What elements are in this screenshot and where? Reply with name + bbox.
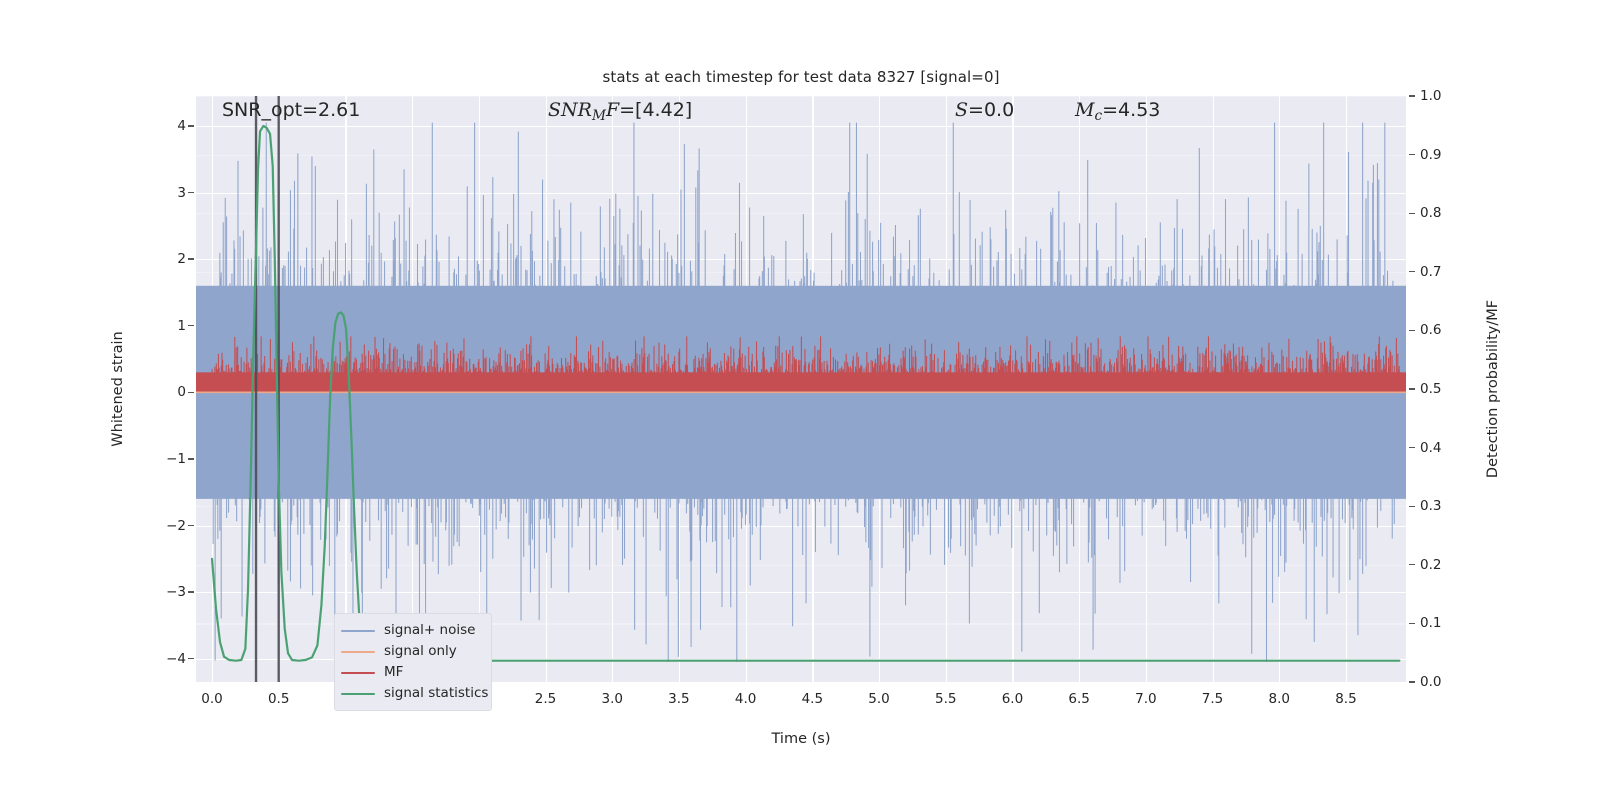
chart-legend[interactable]: signal+ noisesignal onlyMFsignal statist… <box>334 613 492 711</box>
legend-label: signal+ noise <box>384 624 475 638</box>
legend-item[interactable]: signal statistics <box>341 683 483 704</box>
x-axis-label: Time (s) <box>772 731 831 747</box>
x-axis-tick-label: 3.0 <box>601 691 622 707</box>
legend-color-swatch <box>341 630 375 632</box>
y-axis-right-tickmark <box>1409 330 1415 331</box>
legend-color-swatch <box>341 672 375 674</box>
chart-title: stats at each timestep for test data 832… <box>196 68 1406 86</box>
y-axis-right-tick-label: 0.4 <box>1420 440 1441 456</box>
y-axis-right-tick-label: 0.5 <box>1420 381 1441 397</box>
x-axis-tick-label: 6.5 <box>1068 691 1089 707</box>
y-axis-left-tick-label: −1 <box>150 451 186 467</box>
y-axis-right-tick-label: 0.2 <box>1420 557 1441 573</box>
y-axis-right-tickmark <box>1409 447 1415 448</box>
x-axis-tick-label: 0.5 <box>268 691 289 707</box>
x-axis-tick-label: 8.5 <box>1335 691 1356 707</box>
y-axis-left-tickmark <box>188 392 194 393</box>
y-axis-left-tick-label: 2 <box>150 251 186 267</box>
y-axis-left-tick-label: 1 <box>150 318 186 334</box>
y-axis-right-tickmark <box>1409 681 1415 682</box>
legend-label: signal statistics <box>384 687 488 701</box>
x-axis-tick-label: 5.0 <box>868 691 889 707</box>
x-axis-tick-label: 0.0 <box>201 691 222 707</box>
y-axis-right-tickmark <box>1409 388 1415 389</box>
y-axis-left-tick-label: −2 <box>150 518 186 534</box>
y-axis-left-tickmark <box>188 525 194 526</box>
y-axis-right-tickmark <box>1409 506 1415 507</box>
annotation-snr-mf: SNRMF=[4.42] <box>548 99 692 124</box>
y-axis-left-tick-label: −4 <box>150 651 186 667</box>
figure-canvas: stats at each timestep for test data 832… <box>0 0 1600 800</box>
legend-item[interactable]: signal+ noise <box>341 620 483 641</box>
y-axis-right-tickmark <box>1409 154 1415 155</box>
y-axis-left-tickmark <box>188 258 194 259</box>
legend-item[interactable]: signal only <box>341 641 483 662</box>
legend-label: signal only <box>384 645 457 659</box>
y-axis-right-tick-label: 0.1 <box>1420 615 1441 631</box>
y-axis-right-tickmark <box>1409 95 1415 96</box>
y-axis-left-tickmark <box>188 192 194 193</box>
y-axis-left-tick-label: 0 <box>150 384 186 400</box>
x-axis-tick-label: 8.0 <box>1269 691 1290 707</box>
y-axis-left-tickmark <box>188 125 194 126</box>
x-axis-tick-label: 7.0 <box>1135 691 1156 707</box>
y-axis-right-tick-label: 0.0 <box>1420 674 1441 690</box>
y-axis-right-tickmark <box>1409 213 1415 214</box>
y-axis-right-label: Detection probability/MF <box>1485 300 1501 478</box>
y-axis-left-tick-label: 3 <box>150 185 186 201</box>
y-axis-right-tickmark <box>1409 564 1415 565</box>
legend-color-swatch <box>341 651 375 653</box>
y-axis-left-tickmark <box>188 458 194 459</box>
y-axis-right-tick-label: 0.3 <box>1420 498 1441 514</box>
y-axis-right-tick-label: 1.0 <box>1420 88 1441 104</box>
y-axis-right-tick-label: 0.7 <box>1420 264 1441 280</box>
x-axis-tick-label: 2.5 <box>535 691 556 707</box>
y-axis-left-tickmark <box>188 325 194 326</box>
x-axis-tick-label: 4.0 <box>735 691 756 707</box>
legend-label: MF <box>384 666 403 680</box>
y-axis-left-tick-label: 4 <box>150 118 186 134</box>
y-axis-left-tick-label: −3 <box>150 584 186 600</box>
plot-area: SNR_opt=2.61 SNRMF=[4.42] S=0.0 Mc=4.53 <box>196 96 1406 682</box>
data-traces <box>196 96 1406 682</box>
x-axis-tick-label: 7.5 <box>1202 691 1223 707</box>
x-axis-tick-label: 6.0 <box>1002 691 1023 707</box>
y-axis-right-tickmark <box>1409 271 1415 272</box>
x-axis-tick-label: 5.5 <box>935 691 956 707</box>
legend-item[interactable]: MF <box>341 662 483 683</box>
y-axis-left-label: Whitened strain <box>110 331 126 446</box>
annotation-s-stat: S=0.0 <box>955 99 1014 121</box>
x-axis-tick-label: 3.5 <box>668 691 689 707</box>
y-axis-right-tickmark <box>1409 623 1415 624</box>
y-axis-right-tick-label: 0.6 <box>1420 322 1441 338</box>
annotation-snr-opt: SNR_opt=2.61 <box>222 99 360 121</box>
y-axis-left-tickmark <box>188 658 194 659</box>
y-axis-right-tick-label: 0.8 <box>1420 205 1441 221</box>
legend-color-swatch <box>341 693 375 695</box>
y-axis-left-tickmark <box>188 591 194 592</box>
y-axis-right-tick-label: 0.9 <box>1420 147 1441 163</box>
annotation-chirp-mass: Mc=4.53 <box>1075 99 1160 124</box>
x-axis-tick-label: 4.5 <box>802 691 823 707</box>
